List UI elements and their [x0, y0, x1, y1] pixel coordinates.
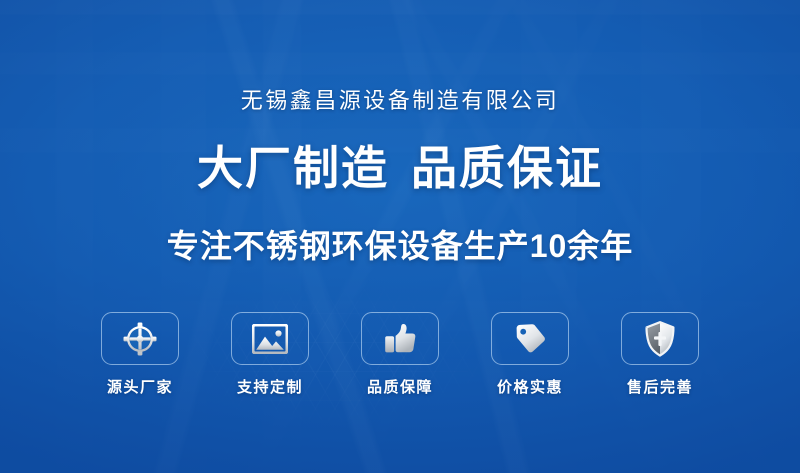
promo-banner: 无锡鑫昌源设备制造有限公司 大厂制造品质保证 专注不锈钢环保设备生产10余年 — [0, 0, 800, 473]
shield-icon — [645, 321, 675, 357]
feature-label: 支持定制 — [237, 380, 303, 395]
feature-item-source-factory[interactable]: 源头厂家 — [100, 312, 180, 395]
headline-part-2: 品质保证 — [411, 142, 603, 194]
subheadline: 专注不锈钢环保设备生产10余年 — [167, 230, 634, 262]
feature-item-affordable-price[interactable]: 价格实惠 — [490, 312, 570, 395]
icon-box — [101, 312, 179, 365]
icon-box — [361, 312, 439, 365]
headline-part-1: 大厂制造 — [197, 142, 389, 194]
feature-label: 源头厂家 — [107, 380, 173, 395]
headline: 大厂制造品质保证 — [197, 145, 603, 191]
crosshair-target-icon — [122, 321, 158, 357]
feature-item-custom-support[interactable]: 支持定制 — [230, 312, 310, 395]
image-picture-icon — [252, 324, 288, 354]
price-tag-icon — [513, 323, 547, 355]
thumbs-up-icon — [383, 322, 417, 356]
company-name: 无锡鑫昌源设备制造有限公司 — [241, 90, 560, 112]
icon-box — [231, 312, 309, 365]
feature-label: 品质保障 — [367, 380, 433, 395]
feature-label: 售后完善 — [627, 380, 693, 395]
banner-content: 无锡鑫昌源设备制造有限公司 大厂制造品质保证 专注不锈钢环保设备生产10余年 — [0, 0, 800, 473]
feature-label: 价格实惠 — [497, 380, 563, 395]
feature-item-quality-guarantee[interactable]: 品质保障 — [360, 312, 440, 395]
feature-item-after-sales[interactable]: 售后完善 — [620, 312, 700, 395]
icon-box — [621, 312, 699, 365]
feature-list: 源头厂家 — [100, 312, 700, 395]
icon-box — [491, 312, 569, 365]
